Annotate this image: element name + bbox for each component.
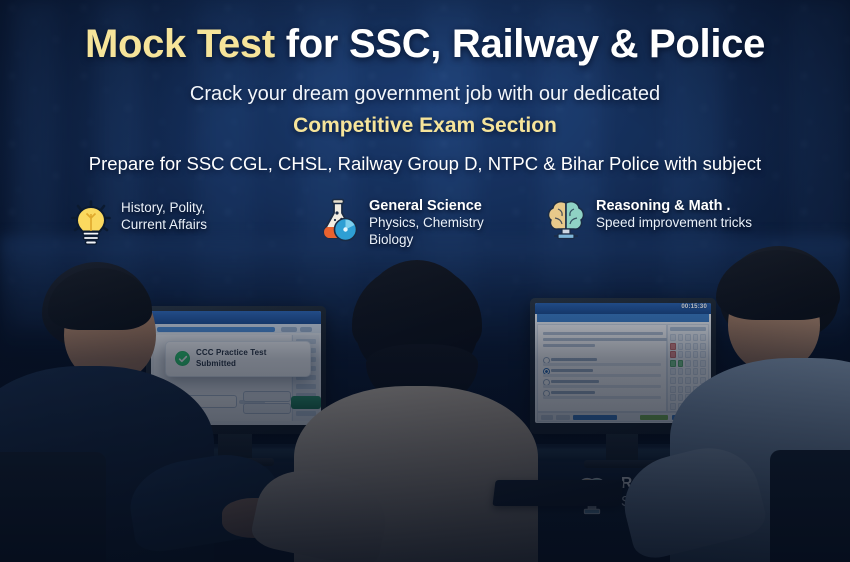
student-center bbox=[308, 260, 538, 562]
flask-science-icon bbox=[318, 198, 360, 249]
feature-top-1-desc-1: History, Polity, bbox=[121, 200, 207, 217]
feature-top-3-desc-1: Speed improvement tricks bbox=[596, 215, 752, 232]
subheadline-3: Prepare for SSC CGL, CHSL, Railway Group… bbox=[0, 155, 850, 174]
feature-top-2-desc-1: Physics, Chemistry bbox=[369, 215, 484, 232]
feature-top-3-title: Reasoning & Math . bbox=[596, 198, 752, 215]
quiz-progress-bar bbox=[537, 314, 709, 322]
classroom-photo: CCC Practice Test Submitted 00: bbox=[0, 236, 850, 562]
mock-test-promo-banner: CCC Practice Test Submitted 00: bbox=[0, 0, 850, 562]
feature-top-2: General Science Physics, Chemistry Biolo… bbox=[318, 198, 484, 249]
subheadline-2: Competitive Exam Section bbox=[0, 115, 850, 136]
quiz-submit-button[interactable] bbox=[640, 415, 668, 420]
feature-top-1: History, Polity, Current Affairs bbox=[70, 200, 207, 251]
chair-right bbox=[770, 450, 850, 562]
headline-rest: for SSC, Railway & Police bbox=[275, 22, 765, 66]
keyboard-center bbox=[492, 480, 623, 506]
subheadline-1: Crack your dream government job with our… bbox=[0, 84, 850, 104]
page-title: Mock Test for SSC, Railway & Police bbox=[0, 24, 850, 64]
brain-icon bbox=[545, 198, 587, 247]
lightbulb-icon bbox=[70, 200, 112, 251]
quiz-question-panel bbox=[537, 324, 667, 412]
feature-top-2-desc-2: Biology bbox=[369, 232, 484, 249]
chair-left bbox=[0, 452, 106, 562]
feature-top-2-title: General Science bbox=[369, 198, 484, 215]
feature-top-3: Reasoning & Math . Speed improvement tri… bbox=[545, 198, 752, 247]
quiz-next-button[interactable] bbox=[573, 415, 617, 420]
headline-highlight: Mock Test bbox=[85, 22, 275, 66]
feature-top-1-desc-2: Current Affairs bbox=[121, 217, 207, 234]
